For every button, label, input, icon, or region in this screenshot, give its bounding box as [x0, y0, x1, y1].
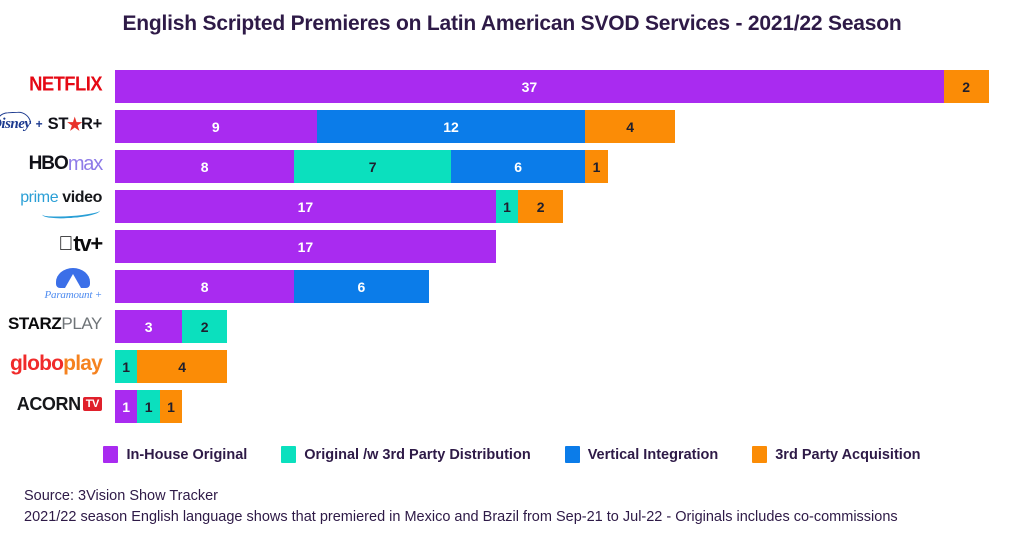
legend-swatch-icon	[103, 446, 118, 463]
logo-paramount-plus: Paramount +	[45, 268, 102, 301]
appletv-wordmark: tv+	[73, 231, 102, 257]
stacked-bar: 17	[115, 230, 496, 263]
row-label-starzplay: STARZPLAY	[0, 304, 110, 344]
row-label-disney-star: Disney+ST★R+	[0, 104, 110, 144]
bar-value-label: 4	[178, 359, 186, 375]
row-label-netflix: NETFLIX	[0, 64, 110, 104]
chart-row: ACORNTV111	[0, 384, 1024, 424]
bar-segment: 1	[160, 390, 182, 423]
chart-row: tv+17	[0, 224, 1024, 264]
hbo-wordmark: HB	[29, 153, 54, 175]
stacked-bar: 111	[115, 390, 182, 423]
row-label-paramount: Paramount +	[0, 264, 110, 304]
bar-value-label: 4	[626, 119, 634, 135]
bar-segment: 3	[115, 310, 182, 343]
acorn-tv-badge: TV	[83, 397, 102, 411]
legend-item[interactable]: Original /w 3rd Party Distribution	[281, 446, 530, 463]
stacked-bar: 32	[115, 310, 227, 343]
logo-globoplay: globoplay	[10, 352, 102, 376]
bar-segment: 1	[137, 390, 159, 423]
chart-row: primevideo1712	[0, 184, 1024, 224]
chart-plot-area: NETFLIX372Disney+ST★R+9124HBOmax8761prim…	[0, 64, 1024, 436]
bar-value-label: 1	[167, 399, 175, 415]
bar-value-label: 17	[298, 199, 314, 215]
legend-item[interactable]: Vertical Integration	[565, 446, 719, 463]
logo-prime-video: primevideo	[20, 190, 102, 218]
bar-value-label: 7	[369, 159, 377, 175]
bar-segment: 37	[115, 70, 944, 103]
bar-value-label: 3	[145, 319, 153, 335]
bar-segment: 1	[115, 390, 137, 423]
page-title: English Scripted Premieres on Latin Amer…	[0, 12, 1024, 36]
chart-row: STARZPLAY32	[0, 304, 1024, 344]
chart-row: HBOmax8761	[0, 144, 1024, 184]
row-label-globoplay: globoplay	[0, 344, 110, 384]
chart-legend: In-House OriginalOriginal /w 3rd Party D…	[0, 446, 1024, 463]
legend-item[interactable]: 3rd Party Acquisition	[752, 446, 920, 463]
legend-swatch-icon	[752, 446, 767, 463]
chart-row: Paramount +86	[0, 264, 1024, 304]
star-wordmark: ST★R+	[48, 115, 102, 134]
bar-value-label: 1	[503, 199, 511, 215]
paramount-mountain-icon	[56, 268, 90, 288]
bar-segment: 17	[115, 190, 496, 223]
row-label-hbo-max: HBOmax	[0, 144, 110, 184]
row-label-apple-tv: tv+	[0, 224, 110, 264]
bar-segment: 12	[317, 110, 586, 143]
bar-segment: 1	[496, 190, 518, 223]
play-wordmark: play	[63, 352, 102, 376]
stacked-bar: 9124	[115, 110, 675, 143]
logo-disney-plus-star-plus: Disney+ST★R+	[0, 115, 102, 134]
disney-plus-icon: +	[36, 117, 43, 131]
stacked-bar: 1712	[115, 190, 563, 223]
bar-segment: 9	[115, 110, 317, 143]
row-label-acorn-tv: ACORNTV	[0, 384, 110, 424]
amazon-smile-icon	[42, 205, 101, 220]
legend-label: Original /w 3rd Party Distribution	[304, 447, 530, 463]
play-wordmark: PLAY	[61, 314, 102, 334]
bar-segment: 2	[182, 310, 227, 343]
legend-swatch-icon	[565, 446, 580, 463]
video-wordmark: video	[62, 190, 102, 206]
bar-value-label: 1	[122, 359, 130, 375]
bar-value-label: 2	[201, 319, 209, 335]
logo-netflix: NETFLIX	[29, 72, 102, 97]
logo-hbo-max: HBOmax	[29, 153, 102, 176]
chart-row: globoplay14	[0, 344, 1024, 384]
max-wordmark: max	[68, 153, 102, 176]
bar-value-label: 1	[122, 399, 130, 415]
globo-wordmark: globo	[10, 352, 63, 376]
bar-value-label: 1	[593, 159, 601, 175]
hbo-o-glyph: O	[54, 153, 68, 175]
legend-item[interactable]: In-House Original	[103, 446, 247, 463]
bar-value-label: 2	[962, 79, 970, 95]
star-icon: ★	[67, 116, 82, 133]
disney-wordmark: Disney	[0, 116, 31, 133]
logo-starzplay: STARZPLAY	[8, 314, 102, 334]
apple-icon: 	[58, 233, 72, 256]
bar-value-label: 6	[514, 159, 522, 175]
paramount-wordmark: Paramount +	[45, 290, 102, 301]
chart-row: NETFLIX372	[0, 64, 1024, 104]
bar-value-label: 9	[212, 119, 220, 135]
chart-row: Disney+ST★R+9124	[0, 104, 1024, 144]
legend-label: 3rd Party Acquisition	[775, 447, 920, 463]
bar-value-label: 6	[357, 279, 365, 295]
bar-value-label: 8	[201, 159, 209, 175]
bar-segment: 2	[518, 190, 563, 223]
bar-segment: 4	[137, 350, 227, 383]
bar-value-label: 8	[201, 279, 209, 295]
row-label-prime-video: primevideo	[0, 184, 110, 224]
methodology-line: 2021/22 season English language shows th…	[24, 507, 1014, 528]
bar-value-label: 12	[443, 119, 459, 135]
legend-label: In-House Original	[126, 447, 247, 463]
prime-wordmark: prime	[20, 190, 58, 206]
stacked-bar: 372	[115, 70, 989, 103]
bar-value-label: 37	[522, 79, 538, 95]
acorn-wordmark: ACORN	[17, 394, 81, 415]
stacked-bar: 86	[115, 270, 429, 303]
legend-swatch-icon	[281, 446, 296, 463]
bar-segment: 1	[585, 150, 607, 183]
bar-segment: 4	[585, 110, 675, 143]
starz-wordmark: STARZ	[8, 314, 61, 334]
bar-segment: 6	[451, 150, 585, 183]
bar-segment: 6	[294, 270, 428, 303]
source-line: Source: 3Vision Show Tracker	[24, 486, 1014, 507]
bar-segment: 17	[115, 230, 496, 263]
bar-segment: 8	[115, 150, 294, 183]
stacked-bar: 14	[115, 350, 227, 383]
bar-segment: 1	[115, 350, 137, 383]
stacked-bar: 8761	[115, 150, 608, 183]
logo-apple-tv-plus: tv+	[58, 231, 102, 257]
bar-segment: 7	[294, 150, 451, 183]
bar-segment: 2	[944, 70, 989, 103]
bar-value-label: 2	[537, 199, 545, 215]
bar-segment: 8	[115, 270, 294, 303]
logo-acorn-tv: ACORNTV	[17, 394, 102, 415]
bar-value-label: 17	[298, 239, 314, 255]
bar-value-label: 1	[145, 399, 153, 415]
legend-label: Vertical Integration	[588, 447, 719, 463]
chart-footnotes: Source: 3Vision Show Tracker 2021/22 sea…	[24, 486, 1014, 528]
